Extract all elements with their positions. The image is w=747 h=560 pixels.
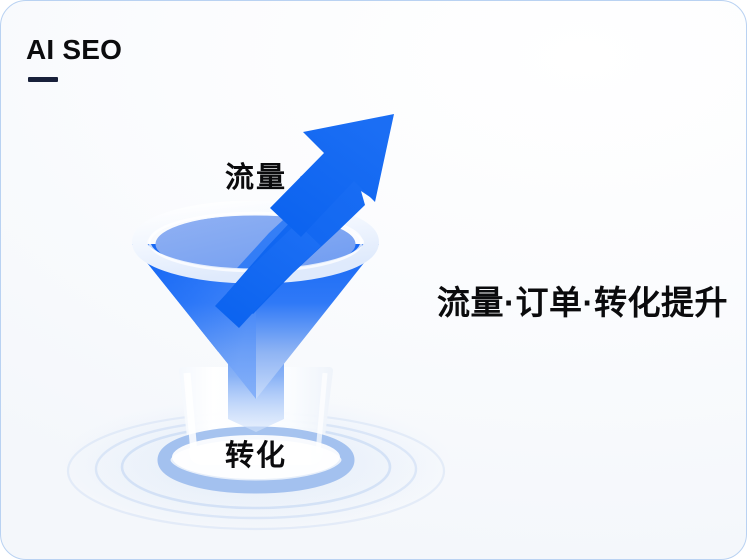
label-traffic: 流量: [225, 154, 287, 196]
page-title: AI SEO: [26, 35, 122, 64]
ai-seo-poster-card: AI SEO 流量 转化 流量·订单·转化提升: [0, 0, 747, 560]
title-block: AI SEO: [26, 35, 122, 82]
label-conversion: 转化: [225, 432, 287, 474]
title-underline-dash: [28, 77, 58, 82]
headline-text: 流量·订单·转化提升: [437, 276, 728, 324]
